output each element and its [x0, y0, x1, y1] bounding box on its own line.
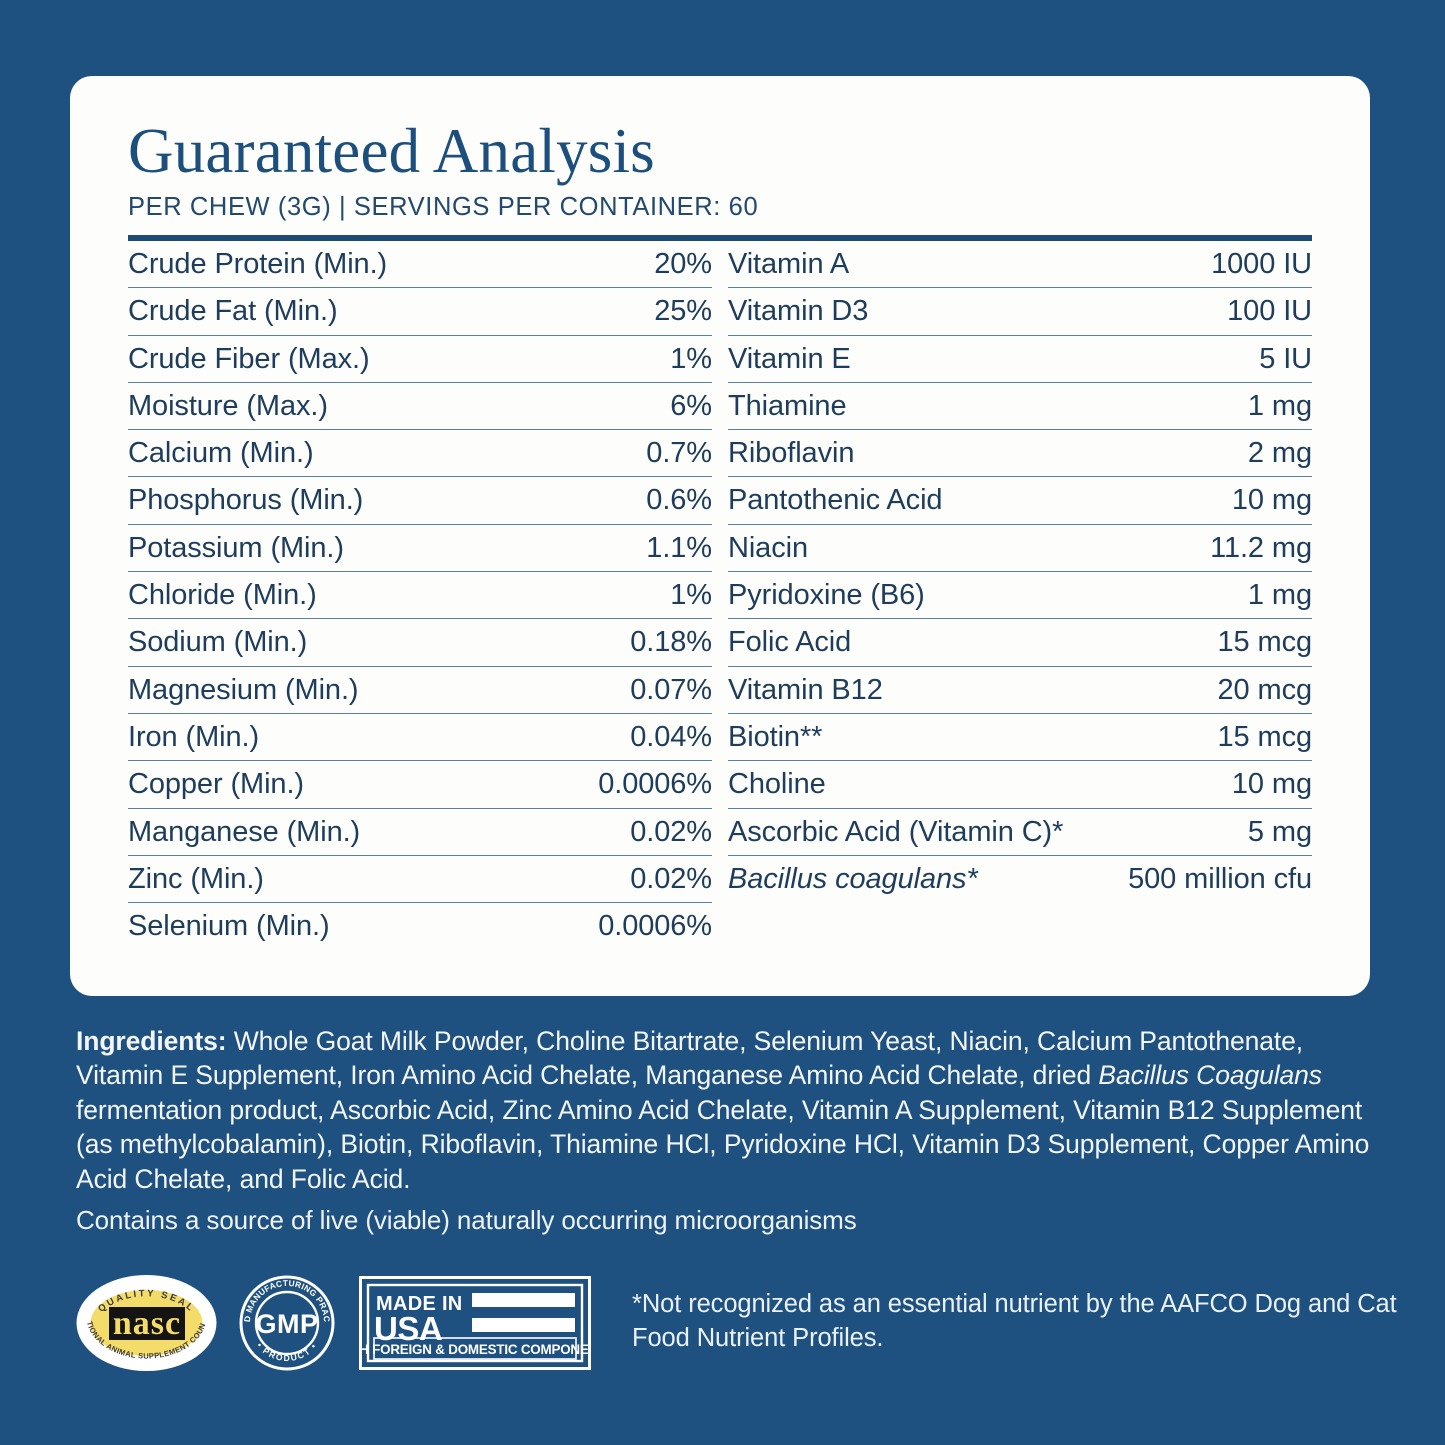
nutrient-name: Crude Fat (Min.) — [128, 295, 338, 328]
nutrient-value: 0.18% — [630, 626, 712, 659]
nutrient-row: Moisture (Max.)6% — [128, 383, 712, 430]
nutrient-name: Vitamin B12 — [728, 674, 883, 707]
nutrient-name: Pyridoxine (B6) — [728, 579, 925, 612]
nutrient-value: 0.0006% — [598, 910, 712, 943]
nutrient-row: Vitamin E5 IU — [728, 336, 1312, 383]
nasc-seal-icon: QUALITY SEAL NATIONAL ANIMAL SUPPLEMENT … — [76, 1274, 217, 1372]
nutrient-row: Calcium (Min.)0.7% — [128, 430, 712, 477]
nutrient-value: 0.02% — [630, 816, 712, 849]
serving-info: PER CHEW (3G) | SERVINGS PER CONTAINER: … — [128, 193, 1312, 222]
nutrient-row: Chloride (Min.)1% — [128, 572, 712, 619]
analysis-column-right: Vitamin A1000 IUVitamin D3100 IUVitamin … — [728, 241, 1312, 950]
nutrient-value: 0.0006% — [598, 768, 712, 801]
nutrient-row: Crude Fat (Min.)25% — [128, 288, 712, 335]
nutrient-value: 100 IU — [1227, 295, 1312, 328]
contains-microorganisms-note: Contains a source of live (viable) natur… — [76, 1205, 857, 1236]
certification-badges: QUALITY SEAL NATIONAL ANIMAL SUPPLEMENT … — [76, 1274, 591, 1372]
nutrient-row: Pantothenic Acid10 mg — [728, 477, 1312, 524]
made-in-usa-badge-icon: MADE IN USA WITH FOREIGN & DOMESTIC COMP… — [359, 1276, 591, 1370]
nutrient-name: Niacin — [728, 532, 808, 565]
nutrient-name: Thiamine — [728, 390, 846, 423]
ingredients-paragraph: Ingredients: Whole Goat Milk Powder, Cho… — [76, 1024, 1376, 1196]
nutrient-value: 6% — [670, 390, 712, 423]
nutrient-name: Zinc (Min.) — [128, 863, 264, 896]
nutrient-value: 0.6% — [646, 484, 712, 517]
nutrient-row: Bacillus coagulans*500 million cfu — [728, 856, 1312, 903]
nutrient-name: Vitamin E — [728, 343, 851, 376]
nutrient-value: 1% — [670, 579, 712, 612]
nutrient-value: 0.7% — [646, 437, 712, 470]
nutrient-row: Vitamin B1220 mcg — [728, 667, 1312, 714]
nutrient-row: Selenium (Min.)0.0006% — [128, 903, 712, 950]
nutrient-row: Vitamin A1000 IU — [728, 241, 1312, 288]
analysis-columns: Crude Protein (Min.)20%Crude Fat (Min.)2… — [128, 241, 1312, 950]
nutrient-row: Pyridoxine (B6)1 mg — [728, 572, 1312, 619]
nutrient-value: 20% — [654, 248, 712, 281]
nutrient-value: 11.2 mg — [1210, 532, 1312, 565]
nutrient-row: Iron (Min.)0.04% — [128, 714, 712, 761]
nutrient-value: 25% — [654, 295, 712, 328]
nutrient-name: Phosphorus (Min.) — [128, 484, 363, 517]
nutrient-value: 0.04% — [630, 721, 712, 754]
nutrient-row: Thiamine1 mg — [728, 383, 1312, 430]
nutrient-row: Magnesium (Min.)0.07% — [128, 667, 712, 714]
analysis-column-left: Crude Protein (Min.)20%Crude Fat (Min.)2… — [128, 241, 712, 950]
svg-text:• PRODUCT •: • PRODUCT • — [255, 1340, 319, 1363]
nutrient-row: Crude Protein (Min.)20% — [128, 241, 712, 288]
nutrient-value: 1 mg — [1248, 390, 1312, 423]
nutrient-value: 1% — [670, 343, 712, 376]
aafco-footnote: *Not recognized as an essential nutrient… — [632, 1288, 1445, 1356]
nutrient-name: Potassium (Min.) — [128, 532, 344, 565]
supplement-facts-label: Guaranteed Analysis PER CHEW (3G) | SERV… — [0, 0, 1445, 1445]
nutrient-name: Choline — [728, 768, 826, 801]
nutrient-name: Pantothenic Acid — [728, 484, 942, 517]
nutrient-row: Phosphorus (Min.)0.6% — [128, 477, 712, 524]
nutrient-name: Magnesium (Min.) — [128, 674, 358, 707]
nutrient-name: Crude Fiber (Max.) — [128, 343, 370, 376]
nutrient-name: Vitamin D3 — [728, 295, 868, 328]
nutrient-name: Bacillus coagulans* — [728, 863, 978, 896]
nutrient-row: Biotin**15 mcg — [728, 714, 1312, 761]
nutrient-name: Iron (Min.) — [128, 721, 259, 754]
nutrient-row: Potassium (Min.)1.1% — [128, 525, 712, 572]
nutrient-value: 5 IU — [1259, 343, 1312, 376]
nutrient-row: Choline10 mg — [728, 761, 1312, 808]
nutrient-name: Riboflavin — [728, 437, 854, 470]
page-title: Guaranteed Analysis — [128, 120, 1312, 183]
nutrient-row: Riboflavin2 mg — [728, 430, 1312, 477]
nutrient-name: Chloride (Min.) — [128, 579, 317, 612]
nutrient-row: Copper (Min.)0.0006% — [128, 761, 712, 808]
nutrient-row: Crude Fiber (Max.)1% — [128, 336, 712, 383]
svg-text:nasc: nasc — [113, 1305, 181, 1342]
nutrient-name: Calcium (Min.) — [128, 437, 314, 470]
nutrient-row: Niacin11.2 mg — [728, 525, 1312, 572]
svg-text:GMP: GMP — [255, 1309, 318, 1339]
guaranteed-analysis-card: Guaranteed Analysis PER CHEW (3G) | SERV… — [70, 76, 1370, 996]
nutrient-name: Selenium (Min.) — [128, 910, 330, 943]
nutrient-name: Ascorbic Acid (Vitamin C)* — [728, 816, 1063, 849]
gmp-badge-icon: GOOD MANUFACTURING PRACTICE • PRODUCT • … — [239, 1275, 335, 1371]
nutrient-value: 1.1% — [646, 532, 712, 565]
nutrient-value: 10 mg — [1232, 484, 1312, 517]
ingredients-label: Ingredients: — [76, 1026, 226, 1056]
nutrient-value: 500 million cfu — [1128, 863, 1312, 896]
nutrient-name: Sodium (Min.) — [128, 626, 307, 659]
nutrient-value: 5 mg — [1248, 816, 1312, 849]
nutrient-row: Manganese (Min.)0.02% — [128, 809, 712, 856]
nutrient-name: Crude Protein (Min.) — [128, 248, 387, 281]
nutrient-value: 20 mcg — [1218, 674, 1313, 707]
nutrient-name: Copper (Min.) — [128, 768, 304, 801]
nutrient-value: 10 mg — [1232, 768, 1312, 801]
nutrient-value: 1000 IU — [1211, 248, 1312, 281]
nutrient-name: Folic Acid — [728, 626, 851, 659]
svg-text:WITH FOREIGN & DOMESTIC COMPON: WITH FOREIGN & DOMESTIC COMPONENTS — [359, 1342, 591, 1357]
nutrient-row: Zinc (Min.)0.02% — [128, 856, 712, 903]
nutrient-value: 15 mcg — [1218, 721, 1313, 754]
nutrient-value: 2 mg — [1248, 437, 1312, 470]
nutrient-value: 1 mg — [1248, 579, 1312, 612]
ingredients-text-part2: fermentation product, Ascorbic Acid, Zin… — [76, 1095, 1369, 1194]
nutrient-name: Manganese (Min.) — [128, 816, 360, 849]
nutrient-name: Biotin** — [728, 721, 822, 754]
nutrient-row: Folic Acid15 mcg — [728, 619, 1312, 666]
nutrient-value: 0.07% — [630, 674, 712, 707]
nutrient-row: Vitamin D3100 IU — [728, 288, 1312, 335]
nutrient-row: Ascorbic Acid (Vitamin C)*5 mg — [728, 809, 1312, 856]
nutrient-value: 0.02% — [630, 863, 712, 896]
nutrient-name: Moisture (Max.) — [128, 390, 328, 423]
ingredients-species-italic: Bacillus Coagulans — [1098, 1060, 1322, 1090]
nutrient-row: Sodium (Min.)0.18% — [128, 619, 712, 666]
nutrient-name: Vitamin A — [728, 248, 849, 281]
nutrient-value: 15 mcg — [1218, 626, 1313, 659]
